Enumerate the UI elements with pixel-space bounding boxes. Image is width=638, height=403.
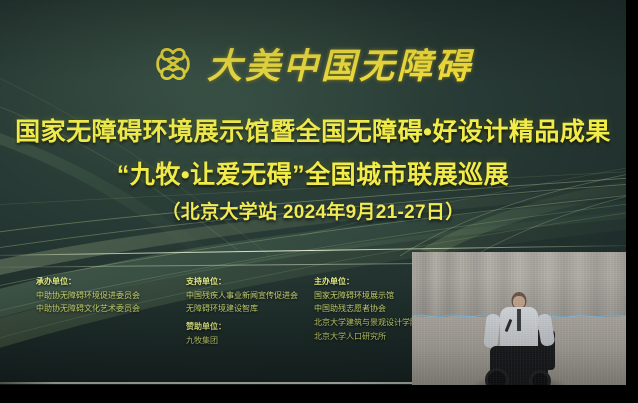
title-subtitle-date: （北京大学站 2024年9月21-27日） [0, 197, 626, 224]
speaker-in-wheelchair [487, 292, 551, 385]
credit-item: 中国残疾人事业新闻宣传促进会 [186, 289, 314, 303]
credit-item: 无障碍环境建设智库 [186, 302, 314, 316]
wheelchair-wheel-right [529, 370, 551, 385]
credit-item: 中助协无障碍环境促进委员会 [36, 289, 186, 303]
presentation-screen: 大美中国无障碍 国家无障碍环境展示馆暨全国无障碍•好设计精品成果 “九牧•让爱无… [0, 0, 638, 403]
speaker-tie [517, 309, 521, 331]
credit-heading: 支持单位： [186, 276, 314, 288]
wheelchair-wheel-left [485, 368, 509, 385]
flower-knot-emblem-icon [153, 44, 193, 84]
credit-heading-sponsor: 赞助单位： [186, 321, 314, 333]
letterbox-right [626, 0, 638, 403]
credit-column-organizer: 承办单位： 中助协无障碍环境促进委员会 中助协无障碍文化艺术委员会 [36, 276, 186, 347]
credits-block: 承办单位： 中助协无障碍环境促进委员会 中助协无障碍文化艺术委员会 支持单位： … [36, 276, 426, 347]
title-line-2: “九牧•让爱无碍”全国城市联展巡展 [0, 155, 626, 191]
logo: 大美中国无障碍 [0, 38, 626, 89]
logo-wordmark: 大美中国无障碍 [207, 38, 473, 89]
speaker-left-arm [483, 313, 500, 348]
credit-heading: 承办单位： [36, 276, 186, 288]
speaker-camera-feed[interactable] [412, 252, 626, 385]
letterbox-bottom [0, 385, 638, 403]
title-line-1: 国家无障碍环境展示馆暨全国无障碍•好设计精品成果 [0, 112, 626, 148]
slide-canvas: 大美中国无障碍 国家无障碍环境展示馆暨全国无障碍•好设计精品成果 “九牧•让爱无… [0, 0, 626, 385]
credit-item: 九牧集团 [186, 334, 314, 348]
credit-column-support: 支持单位： 中国残疾人事业新闻宣传促进会 无障碍环境建设智库 赞助单位： 九牧集… [186, 276, 314, 347]
credit-item: 中助协无障碍文化艺术委员会 [36, 302, 186, 316]
